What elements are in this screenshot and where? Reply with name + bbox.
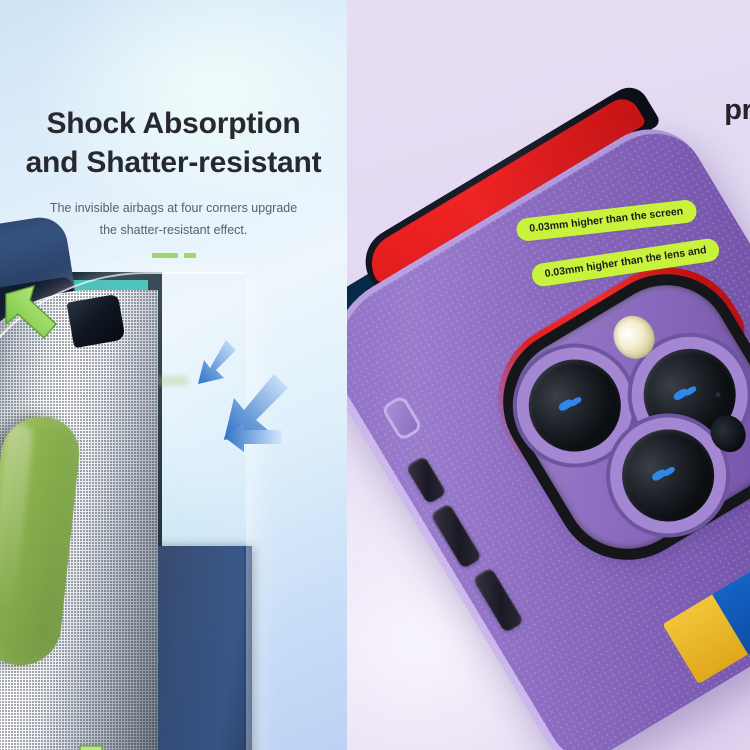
left-accent-dashes xyxy=(152,253,196,258)
expansion-arrow-up-icon xyxy=(0,284,72,350)
left-headline-line2: and Shatter-resistant xyxy=(0,143,347,182)
left-feature-panel: Shock Absorption and Shatter-resistant T… xyxy=(0,0,347,750)
left-subtitle-line2: the shatter-resistant effect. xyxy=(0,220,347,242)
right-subtitle-line2: from direct collision when dropped xyxy=(694,165,750,186)
left-text-block: Shock Absorption and Shatter-resistant T… xyxy=(0,104,347,258)
right-headline-line2: provides more protection xyxy=(694,91,750,130)
phone-case-product-shot xyxy=(359,212,750,750)
impact-arrow-3-icon xyxy=(222,420,284,454)
right-headline-line1: Elevated design xyxy=(694,52,750,91)
right-text-block: Elevated design provides more protection… xyxy=(694,52,750,203)
product-feature-image: Shock Absorption and Shatter-resistant T… xyxy=(0,0,750,750)
right-subtitle-line1: Elevated design at edges effectively avo… xyxy=(694,144,750,165)
corner-clip-top xyxy=(66,294,125,348)
expansion-arrow-down-icon xyxy=(62,744,120,750)
left-headline-line1: Shock Absorption xyxy=(0,104,347,143)
left-subtitle-line1: The invisible airbags at four corners up… xyxy=(0,198,347,220)
right-feature-panel: 0.3MM xyxy=(347,0,750,750)
airbag-cutaway-illustration xyxy=(0,246,302,750)
